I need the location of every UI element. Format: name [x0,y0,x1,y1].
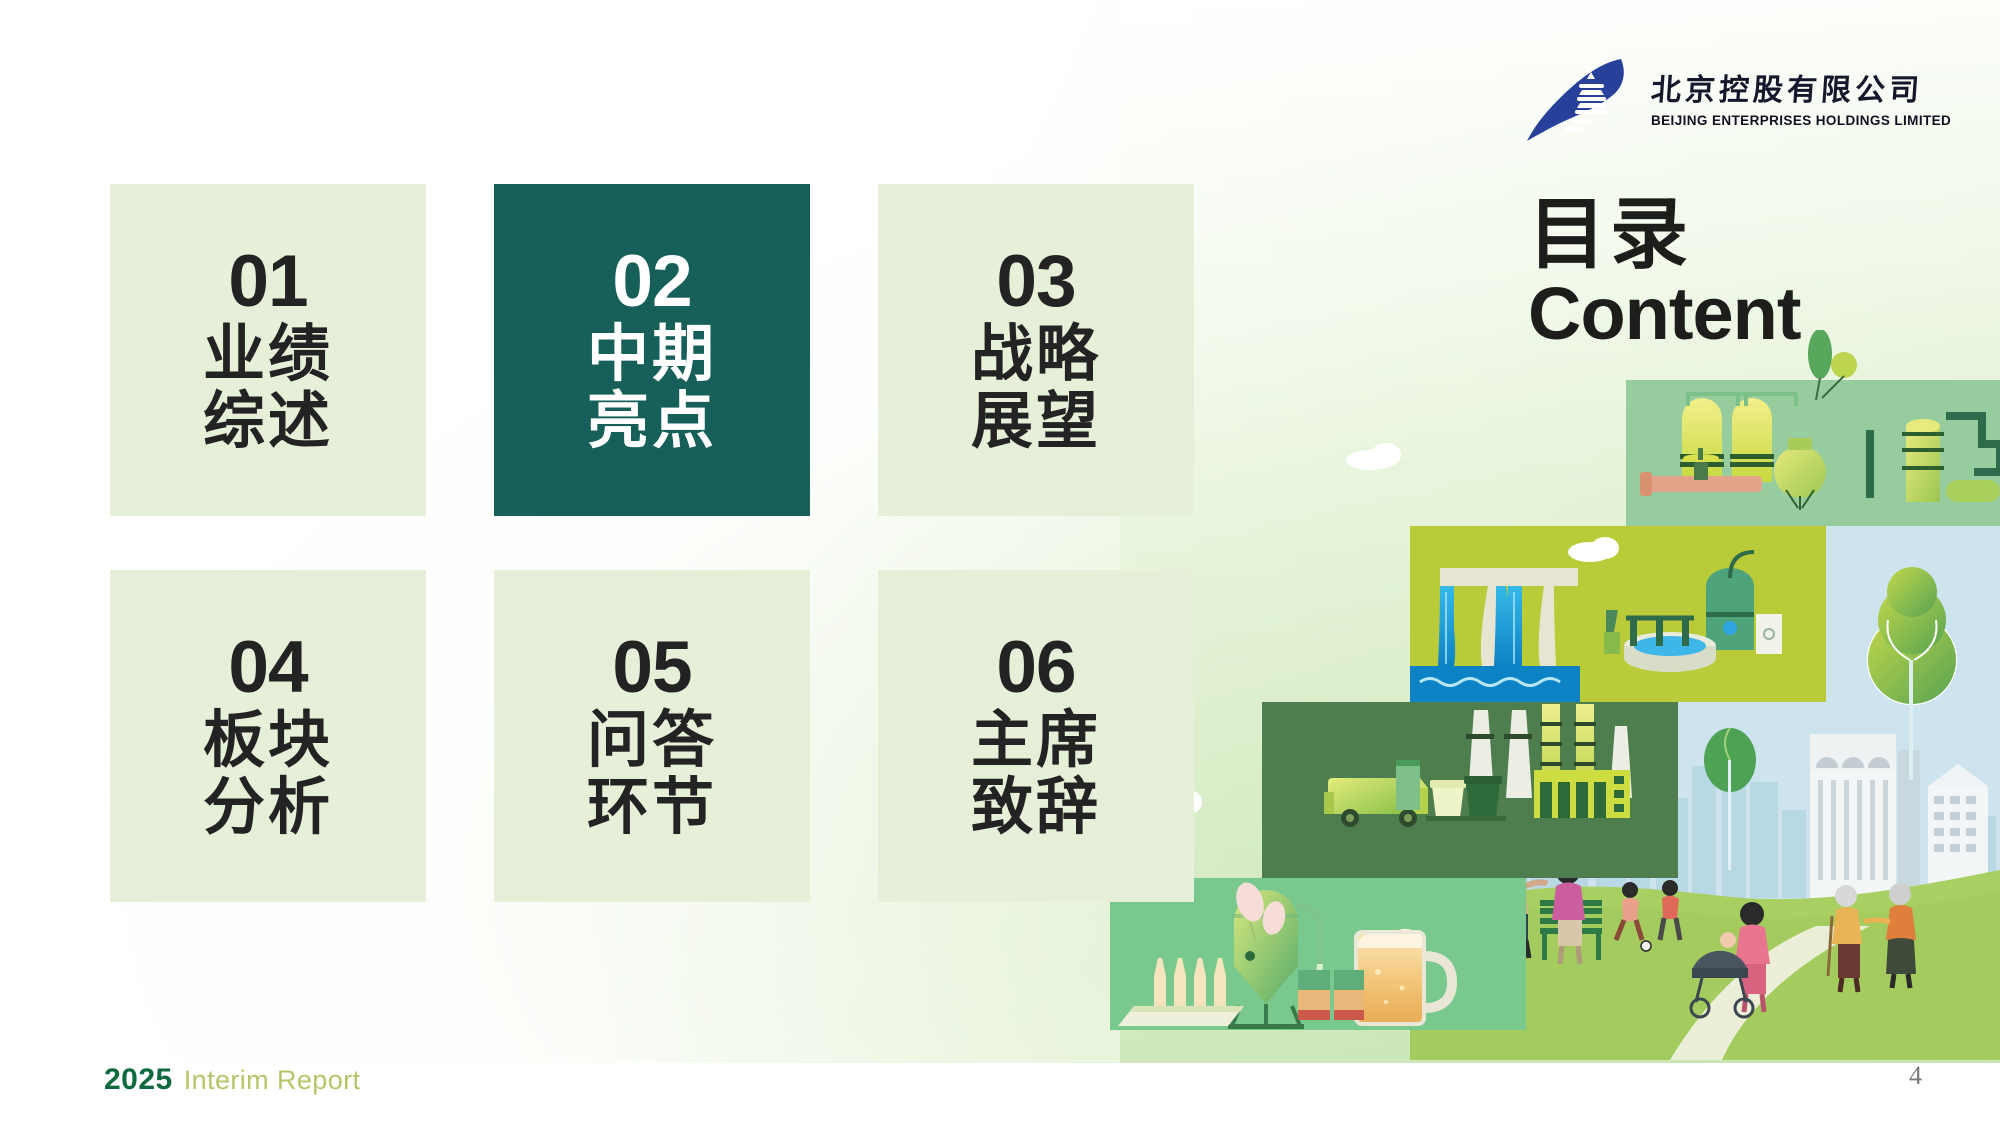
agenda-card-line2: 亮点 [587,389,717,456]
agenda-card-line2: 致辞 [971,775,1101,842]
waste-panel-group [1262,702,1678,878]
agenda-card-number: 04 [228,631,307,704]
agenda-card-05[interactable]: 05 问答 环节 [494,570,810,902]
gas-panel-group [1626,330,2000,526]
agenda-card-line1: 板块 [203,708,333,775]
water-panel-group [1410,526,1826,702]
agenda-card-number: 02 [612,245,691,318]
agenda-card-line2: 综述 [203,389,333,456]
page-title-cn: 目录 [1528,196,1801,272]
tower-building [1810,734,1920,898]
agenda-grid: 01 业绩 综述 02 中期 亮点 03 战略 展望 04 板块 分析 05 问… [110,184,1194,902]
agenda-card-02[interactable]: 02 中期 亮点 [494,184,810,516]
agenda-card-number: 03 [996,245,1075,318]
agenda-card-03[interactable]: 03 战略 展望 [878,184,1194,516]
agenda-card-line1: 中期 [587,322,717,389]
page-number: 4 [1909,1061,1922,1091]
agenda-card-line2: 环节 [587,775,717,842]
logo-name-en: BEIJING ENTERPRISES HOLDINGS LIMITED [1651,113,1951,128]
agenda-card-line2: 展望 [971,389,1101,456]
page-title-en: Content [1528,276,1801,352]
footer: 2025 Interim Report [104,1063,360,1097]
agenda-card-01[interactable]: 01 业绩 综述 [110,184,426,516]
agenda-card-04[interactable]: 04 板块 分析 [110,570,426,902]
agenda-card-line1: 问答 [587,708,717,775]
agenda-card-number: 01 [228,245,307,318]
footer-year: 2025 [104,1063,173,1097]
footer-label: Interim Report [184,1065,361,1096]
agenda-card-line1: 主席 [971,708,1101,775]
agenda-card-line1: 业绩 [203,322,333,389]
company-logo: 北京控股有限公司 BEIJING ENTERPRISES HOLDINGS LI… [1525,48,1925,153]
logo-name-cn: 北京控股有限公司 [1650,73,1953,108]
stepped-segments-illustration [1110,330,2000,1060]
cloud-mid [1346,443,1401,470]
agenda-card-line1: 战略 [971,322,1101,389]
agenda-card-06[interactable]: 06 主席 致辞 [878,570,1194,902]
agenda-card-number: 06 [996,631,1075,704]
beijing-enterprises-wing-icon [1525,53,1635,149]
agenda-card-number: 05 [612,631,691,704]
agenda-card-line2: 分析 [203,775,333,842]
page-title: 目录 Content [1528,196,1801,353]
